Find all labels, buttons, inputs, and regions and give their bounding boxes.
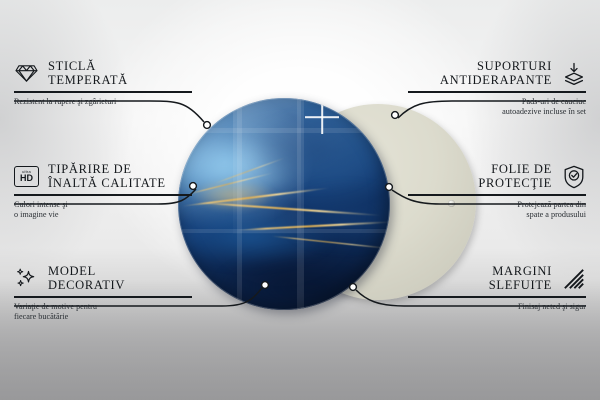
feature-header: MODEL DECORATIV — [14, 265, 192, 292]
feature-protective-film[interactable]: FOLIE DE PROTECŢIE Protejează partea din… — [408, 163, 586, 220]
glass-board — [178, 98, 390, 310]
feature-header: STICLĂ TEMPERATĂ — [14, 60, 192, 87]
feature-description: Finisaj neted şi sigur — [408, 302, 586, 312]
feature-header: FOLIE DE PROTECŢIE — [408, 163, 586, 190]
feature-header: MARGINI SLEFUITE — [408, 265, 586, 292]
ultra-hd-large-label: HD — [20, 174, 33, 183]
feature-title: MODEL DECORATIV — [48, 265, 125, 292]
feature-description: Rezistent la rupere şi zgârieturi — [14, 97, 192, 107]
ultra-hd-icon: ultra HD — [14, 164, 39, 189]
glass-rim — [178, 98, 390, 310]
feature-header: ultra HD TIPĂRIRE DE ÎNALTĂ CALITATE — [14, 163, 192, 190]
feature-title: TIPĂRIRE DE ÎNALTĂ CALITATE — [48, 163, 166, 190]
shield-check-icon — [561, 164, 586, 189]
feature-rule — [408, 91, 586, 93]
feature-rule — [14, 194, 192, 196]
feature-anti-slip-supports[interactable]: SUPORTURI ANTIDERAPANTE Pads-uri de cauc… — [408, 60, 586, 117]
feature-description: Protejează partea din spate a produsului — [408, 200, 586, 220]
feature-rule — [14, 91, 192, 93]
feature-tempered-glass[interactable]: STICLĂ TEMPERATĂ Rezistent la rupere şi … — [14, 60, 192, 107]
feature-title: FOLIE DE PROTECŢIE — [478, 163, 552, 190]
feature-description: Variaţie de motive pentru fiecare bucătă… — [14, 302, 192, 322]
feature-description: Culori intense şi o imagine vie — [14, 200, 192, 220]
feature-rule — [408, 296, 586, 298]
feature-header: SUPORTURI ANTIDERAPANTE — [408, 60, 586, 87]
polished-edge-icon — [561, 266, 586, 291]
feature-decorative-pattern[interactable]: MODEL DECORATIV Variaţie de motive pentr… — [14, 265, 192, 322]
infographic-canvas: STICLĂ TEMPERATĂ Rezistent la rupere şi … — [0, 0, 600, 400]
feature-title: STICLĂ TEMPERATĂ — [48, 60, 128, 87]
feature-title: MARGINI SLEFUITE — [489, 265, 552, 292]
feature-description: Pads-uri de cauciuc autoadezive incluse … — [408, 97, 586, 117]
press-pad-icon — [561, 61, 586, 86]
sparkles-icon — [14, 266, 39, 291]
feature-title: SUPORTURI ANTIDERAPANTE — [440, 60, 552, 87]
feature-rule — [408, 194, 586, 196]
feature-rule — [14, 296, 192, 298]
feature-hd-printing[interactable]: ultra HD TIPĂRIRE DE ÎNALTĂ CALITATE Cul… — [14, 163, 192, 220]
feature-polished-edges[interactable]: MARGINI SLEFUITE Finisaj neted şi sigur — [408, 265, 586, 312]
diamond-icon — [14, 61, 39, 86]
